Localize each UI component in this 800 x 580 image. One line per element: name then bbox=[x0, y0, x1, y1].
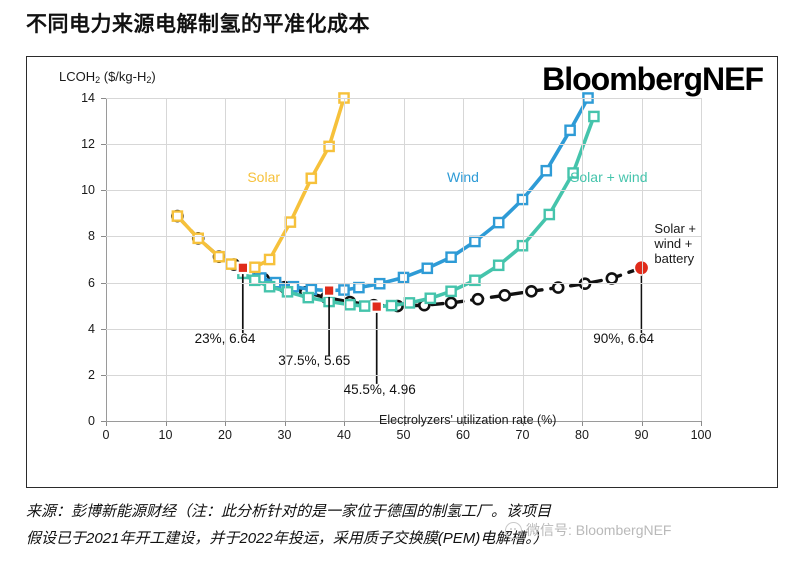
x-axis-tick bbox=[701, 421, 702, 426]
series-marker bbox=[553, 283, 563, 293]
y-axis-tick-label: 2 bbox=[88, 368, 95, 382]
gridline-vertical bbox=[285, 98, 286, 421]
y-axis-tick-label: 10 bbox=[81, 183, 95, 197]
series-marker bbox=[226, 260, 235, 269]
page-title: 不同电力来源电解制氢的平准化成本 bbox=[26, 8, 370, 38]
watermark-text: 微信号: BloombergNEF bbox=[526, 520, 671, 540]
series-label-solar-wind-battery: Solar +wind +battery bbox=[654, 221, 696, 266]
gridline-vertical bbox=[642, 98, 643, 421]
series-marker bbox=[173, 212, 182, 221]
series-marker bbox=[345, 300, 354, 309]
gridline-vertical bbox=[225, 98, 226, 421]
series-marker bbox=[470, 237, 479, 246]
highlight-marker-wind-min bbox=[324, 285, 334, 295]
series-marker bbox=[447, 287, 456, 296]
x-axis-title: Electrolyzers' utilization rate (%) bbox=[379, 413, 556, 427]
series-marker bbox=[307, 174, 316, 183]
y-axis-tick bbox=[101, 421, 106, 422]
series-marker bbox=[286, 218, 295, 227]
highlight-marker-solar-wind-min bbox=[372, 301, 382, 311]
annotation-solar-min: 23%, 6.64 bbox=[195, 331, 256, 346]
gridline-horizontal bbox=[106, 375, 701, 376]
series-line-solar-wind-battery bbox=[177, 216, 641, 306]
annotation-battery-point: 90%, 6.64 bbox=[593, 331, 654, 346]
gridline-vertical bbox=[523, 98, 524, 421]
y-axis-title-mid: ($/kg-H bbox=[100, 69, 146, 84]
series-marker bbox=[405, 298, 414, 307]
x-axis-tick-label: 30 bbox=[278, 428, 292, 442]
y-axis-tick-label: 6 bbox=[88, 276, 95, 290]
series-marker bbox=[215, 252, 224, 261]
x-axis-tick-label: 70 bbox=[516, 428, 530, 442]
series-label-wind: Wind bbox=[447, 169, 479, 185]
series-marker bbox=[250, 263, 259, 272]
highlight-marker-solar-min bbox=[238, 263, 248, 273]
y-axis-tick-label: 14 bbox=[81, 91, 95, 105]
series-marker bbox=[542, 166, 551, 175]
y-axis-tick bbox=[101, 98, 106, 99]
y-axis-title: LCOH2 ($/kg-H2) bbox=[59, 69, 156, 85]
gridline-horizontal bbox=[106, 98, 701, 99]
y-axis-tick bbox=[101, 375, 106, 376]
y-axis-tick-label: 0 bbox=[88, 414, 95, 428]
series-marker bbox=[354, 283, 363, 292]
gridline-vertical bbox=[106, 98, 107, 421]
y-axis-tick bbox=[101, 283, 106, 284]
x-axis-tick-label: 10 bbox=[159, 428, 173, 442]
series-marker bbox=[566, 126, 575, 135]
annotation-wind-min: 37.5%, 5.65 bbox=[278, 353, 350, 368]
y-axis-tick-label: 12 bbox=[81, 137, 95, 151]
x-axis-tick-label: 100 bbox=[691, 428, 712, 442]
x-axis-tick-label: 40 bbox=[337, 428, 351, 442]
y-axis-tick-label: 8 bbox=[88, 229, 95, 243]
series-label-solar-wind: Solar + wind bbox=[570, 169, 647, 185]
series-marker bbox=[526, 286, 536, 296]
series-marker bbox=[500, 290, 510, 300]
gridline-vertical bbox=[404, 98, 405, 421]
x-axis-tick-label: 90 bbox=[635, 428, 649, 442]
series-marker bbox=[494, 261, 503, 270]
series-marker bbox=[265, 255, 274, 264]
chart-container: BloombergNEF LCOH2 ($/kg-H2) 01020304050… bbox=[26, 56, 778, 488]
series-marker bbox=[194, 234, 203, 243]
wechat-watermark: 微信号: BloombergNEF bbox=[505, 520, 671, 540]
y-axis-title-text: LCOH bbox=[59, 69, 95, 84]
series-line-wind bbox=[249, 98, 588, 291]
gridline-vertical bbox=[582, 98, 583, 421]
annotation-solar-wind-min: 45.5%, 4.96 bbox=[344, 382, 416, 397]
series-marker bbox=[446, 298, 456, 308]
gridline-horizontal bbox=[106, 144, 701, 145]
y-axis-tick bbox=[101, 236, 106, 237]
wechat-icon bbox=[505, 522, 522, 539]
gridline-vertical bbox=[701, 98, 702, 421]
series-marker bbox=[447, 253, 456, 262]
series-marker bbox=[423, 264, 432, 273]
series-label-line: Solar + bbox=[654, 221, 696, 236]
plot-area: 010203040506070809010002468101214WindSol… bbox=[106, 98, 701, 421]
series-marker bbox=[545, 210, 554, 219]
series-marker bbox=[360, 302, 369, 311]
gridline-vertical bbox=[344, 98, 345, 421]
series-marker bbox=[304, 293, 313, 302]
gridline-horizontal bbox=[106, 329, 701, 330]
series-label-solar: Solar bbox=[247, 169, 280, 185]
bloombergnef-logo: BloombergNEF bbox=[542, 63, 763, 95]
y-axis-title-end: ) bbox=[151, 69, 155, 84]
x-axis-tick-label: 0 bbox=[103, 428, 110, 442]
series-label-line: battery bbox=[654, 251, 696, 266]
series-marker bbox=[375, 279, 384, 288]
series-marker bbox=[426, 294, 435, 303]
y-axis-tick bbox=[101, 190, 106, 191]
series-label-line: wind + bbox=[654, 236, 696, 251]
series-marker bbox=[494, 218, 503, 227]
series-marker bbox=[387, 301, 396, 310]
x-axis-tick-label: 60 bbox=[456, 428, 470, 442]
y-axis-tick bbox=[101, 144, 106, 145]
y-axis-tick bbox=[101, 329, 106, 330]
x-axis-tick-label: 20 bbox=[218, 428, 232, 442]
x-axis-tick-label: 80 bbox=[575, 428, 589, 442]
series-marker bbox=[589, 112, 598, 121]
x-axis-tick-label: 50 bbox=[397, 428, 411, 442]
y-axis-tick-label: 4 bbox=[88, 322, 95, 336]
gridline-vertical bbox=[463, 98, 464, 421]
gridline-vertical bbox=[166, 98, 167, 421]
gridline-horizontal bbox=[106, 190, 701, 191]
screenshot-root: 不同电力来源电解制氢的平准化成本 BloombergNEF LCOH2 ($/k… bbox=[0, 0, 800, 580]
gridline-horizontal bbox=[106, 283, 701, 284]
gridline-horizontal bbox=[106, 236, 701, 237]
series-marker bbox=[473, 294, 483, 304]
